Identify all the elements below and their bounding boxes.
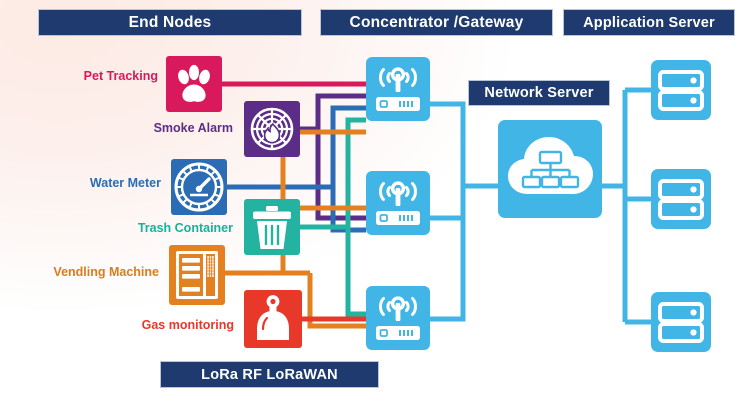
gateway-1[interactable] — [366, 57, 430, 121]
paw-print-icon — [166, 56, 222, 112]
cloud-network-icon — [498, 120, 602, 218]
link-trash-container-down — [348, 227, 366, 314]
vending-machine-icon — [169, 245, 225, 305]
gateway-3[interactable] — [366, 286, 430, 350]
app-server-3[interactable] — [651, 292, 711, 352]
app-server-2[interactable] — [651, 169, 711, 229]
gateway1-to-backbone — [430, 104, 463, 186]
app-server-1[interactable] — [651, 60, 711, 120]
link-smoke-alarm-down — [318, 96, 366, 218]
label-gas-monitoring: Gas monitoring — [0, 318, 234, 332]
label-pet-tracking: Pet Tracking — [0, 69, 158, 83]
banner-lora-protocol: LoRa RF LoRaWAN — [160, 361, 379, 388]
trash-bin-icon — [244, 199, 300, 255]
label-vending-machine: Vendling Machine — [0, 265, 159, 279]
smoke-alarm-icon — [244, 101, 300, 157]
label-trash-container: Trash Container — [0, 221, 233, 235]
gateway-antenna-icon — [366, 286, 430, 350]
banner-network-server: Network Server — [468, 80, 610, 106]
label-water-meter: Water Meter — [0, 176, 161, 190]
gas-cylinder-icon — [244, 290, 302, 348]
tile-water-meter[interactable] — [171, 159, 227, 215]
tile-smoke-alarm[interactable] — [244, 101, 300, 157]
water-meter-icon — [171, 159, 227, 215]
server-rack-icon — [651, 292, 711, 352]
tile-vending-machine[interactable] — [169, 245, 225, 305]
banner-application-server: Application Server — [563, 9, 735, 36]
tile-pet-tracking[interactable] — [166, 56, 222, 112]
diagram-canvas: End Nodes Concentrator /Gateway Applicat… — [0, 0, 750, 404]
server-rack-icon — [651, 169, 711, 229]
banner-end-nodes: End Nodes — [38, 9, 302, 36]
gateway-2[interactable] — [366, 171, 430, 235]
tile-gas-monitoring[interactable] — [244, 290, 302, 348]
tile-trash-container[interactable] — [244, 199, 300, 255]
label-smoke-alarm: Smoke Alarm — [0, 121, 233, 135]
network-server-node[interactable] — [498, 120, 602, 218]
banner-concentrator-gateway: Concentrator /Gateway — [320, 9, 553, 36]
gateway-antenna-icon — [366, 171, 430, 235]
gateway3-to-backbone — [430, 186, 463, 319]
server-rack-icon — [651, 60, 711, 120]
gateway-antenna-icon — [366, 57, 430, 121]
